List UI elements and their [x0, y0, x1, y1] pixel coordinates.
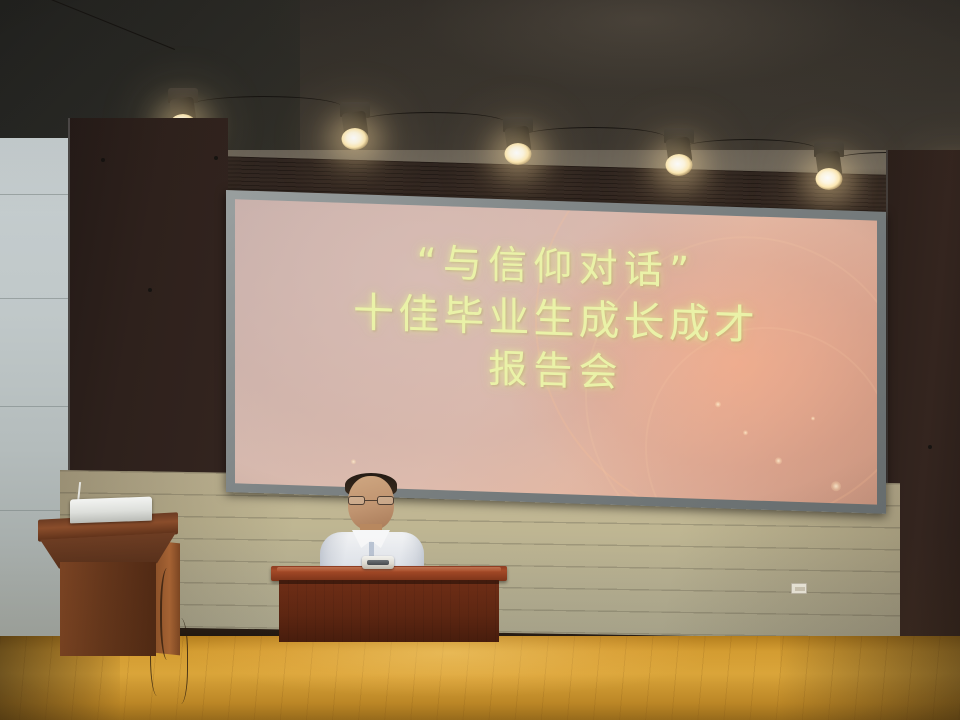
- floor-shadow-right: [780, 636, 960, 720]
- slide-bokeh-2: [743, 430, 748, 435]
- projection-screen-surface: “与信仰对话” 十佳毕业生成长成才 报告会: [235, 199, 877, 504]
- projection-screen: “与信仰对话” 十佳毕业生成长成才 报告会: [226, 190, 886, 514]
- light-cable-1: [186, 96, 342, 118]
- speaker-table: [271, 566, 507, 642]
- table-front-edge: [279, 580, 499, 584]
- light-cable-2: [356, 112, 506, 134]
- slide-text-block: “与信仰对话” 十佳毕业生成长成才 报告会: [235, 233, 877, 405]
- podium-body: [60, 562, 156, 656]
- glasses-icon: [348, 496, 394, 505]
- spotlight-bulb: [816, 168, 843, 190]
- spotlight-bulb: [505, 143, 532, 165]
- podium-cable: [160, 568, 176, 660]
- slide-bokeh-6: [831, 481, 841, 491]
- slide-bokeh-1: [715, 401, 721, 407]
- spotlight-bulb: [342, 128, 369, 150]
- laptop: [70, 497, 152, 524]
- glasses-bridge: [365, 500, 377, 501]
- speaker-podium: [26, 516, 190, 656]
- glasses-left-lens: [348, 496, 365, 505]
- auditorium-photo: “与信仰对话” 十佳毕业生成长成才 报告会: [0, 0, 960, 720]
- projection-screen-frame: “与信仰对话” 十佳毕业生成长成才 报告会: [226, 190, 886, 514]
- slide-bokeh-5: [351, 459, 356, 464]
- light-cable-4: [678, 139, 818, 161]
- desk-microphone-base: [362, 556, 394, 569]
- slide-bokeh-3: [775, 457, 782, 464]
- glasses-right-lens: [377, 496, 394, 505]
- table-front-panel: [279, 580, 499, 642]
- slide-bokeh-4: [811, 416, 815, 420]
- light-cable-3: [518, 127, 666, 149]
- wall-outlet-icon: [791, 583, 807, 594]
- spotlight-bulb: [666, 154, 693, 176]
